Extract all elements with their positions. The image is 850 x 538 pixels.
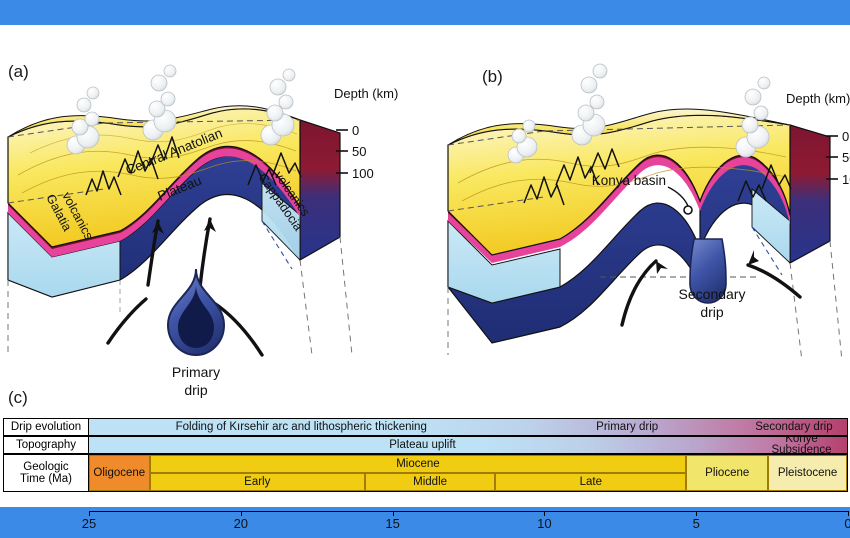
eruption-plume-icon [261, 69, 295, 145]
figure-stage: (a) Depth (km) 0 50 100 Galatia volcanic… [0, 25, 850, 507]
geologic-epoch-cell: Miocene [150, 455, 687, 473]
geologic-time-line2: Time (Ma) [20, 473, 72, 485]
timeline-segment: Plateau uplift [89, 437, 756, 453]
panel-b-depth-tick-100: 10 [842, 172, 850, 187]
panel-b-depth-tick-50: 50 [842, 150, 850, 165]
timeline-row-topography: Topography Plateau upliftKonyeSubsidence [3, 436, 848, 454]
panel-a-label: (a) [8, 62, 29, 81]
timeline-chart: Drip evolution Folding of Kırsehir arc a… [3, 418, 848, 492]
panel-a-depth-tick-50: 50 [352, 144, 366, 159]
axis-tick-label: 15 [385, 516, 399, 531]
secondary-drip-label: Secondary [679, 286, 746, 302]
primary-drip-label: Primary [172, 364, 220, 380]
drip-evolution-track: Folding of Kırsehir arc and lithospheric… [89, 418, 848, 436]
geologic-time-line1: Geologic [23, 461, 68, 473]
secondary-drip-label-2: drip [700, 304, 724, 320]
timeline-segment: Primary drip [513, 419, 740, 435]
panel-b-label: (b) [482, 67, 503, 86]
axis-tick-label: 10 [537, 516, 551, 531]
timeline-segment: Folding of Kırsehir arc and lithospheric… [89, 419, 513, 435]
row-label-topography: Topography [3, 436, 89, 454]
geologic-sub-epoch-cell: Late [495, 473, 686, 491]
eruption-plume-icon [572, 64, 607, 145]
timeline-segment: KonyeSubsidence [756, 437, 847, 453]
panel-a-depth-tick-100: 100 [352, 166, 374, 181]
panel-a-depth-title: Depth (km) [334, 86, 398, 101]
axis-line [89, 511, 848, 512]
panel-b-depth-tick-0: 0 [842, 129, 849, 144]
panel-a-depth-tick-0: 0 [352, 123, 359, 138]
time-axis: 2520151050 [3, 511, 848, 533]
timeline-row-geologic-time: Geologic Time (Ma) OligoceneMiocenePlioc… [3, 454, 848, 492]
topography-track: Plateau upliftKonyeSubsidence [89, 436, 848, 454]
panel-c-label: (c) [8, 388, 28, 407]
geologic-epoch-cell: Pleistocene [768, 455, 847, 491]
axis-tick-label: 0 [844, 516, 850, 531]
panel-b-block [448, 64, 842, 361]
axis-tick-label: 5 [693, 516, 700, 531]
geologic-epoch-cell: Pliocene [686, 455, 768, 491]
row-label-drip-evolution: Drip evolution [3, 418, 89, 436]
geological-block-diagrams: (a) Depth (km) 0 50 100 Galatia volcanic… [0, 25, 850, 425]
axis-tick-label: 20 [234, 516, 248, 531]
timeline-row-drip-evolution: Drip evolution Folding of Kırsehir arc a… [3, 418, 848, 436]
panel-b-depth-title: Depth (km) [786, 91, 850, 106]
geologic-epoch-cell: Oligocene [89, 455, 150, 491]
top-banner-bar [0, 0, 850, 25]
geologic-time-track: OligoceneMiocenePliocenePleistoceneEarly… [89, 454, 848, 492]
konya-basin-label: Konya basin [592, 173, 666, 188]
primary-drip-label-2: drip [184, 382, 208, 398]
geologic-sub-epoch-cell: Middle [365, 473, 495, 491]
row-label-geologic-time: Geologic Time (Ma) [3, 454, 89, 492]
eruption-plume-icon [143, 65, 176, 140]
timeline-segment: Secondary drip [741, 419, 847, 435]
geologic-sub-epoch-cell: Early [150, 473, 365, 491]
axis-tick-label: 25 [82, 516, 96, 531]
